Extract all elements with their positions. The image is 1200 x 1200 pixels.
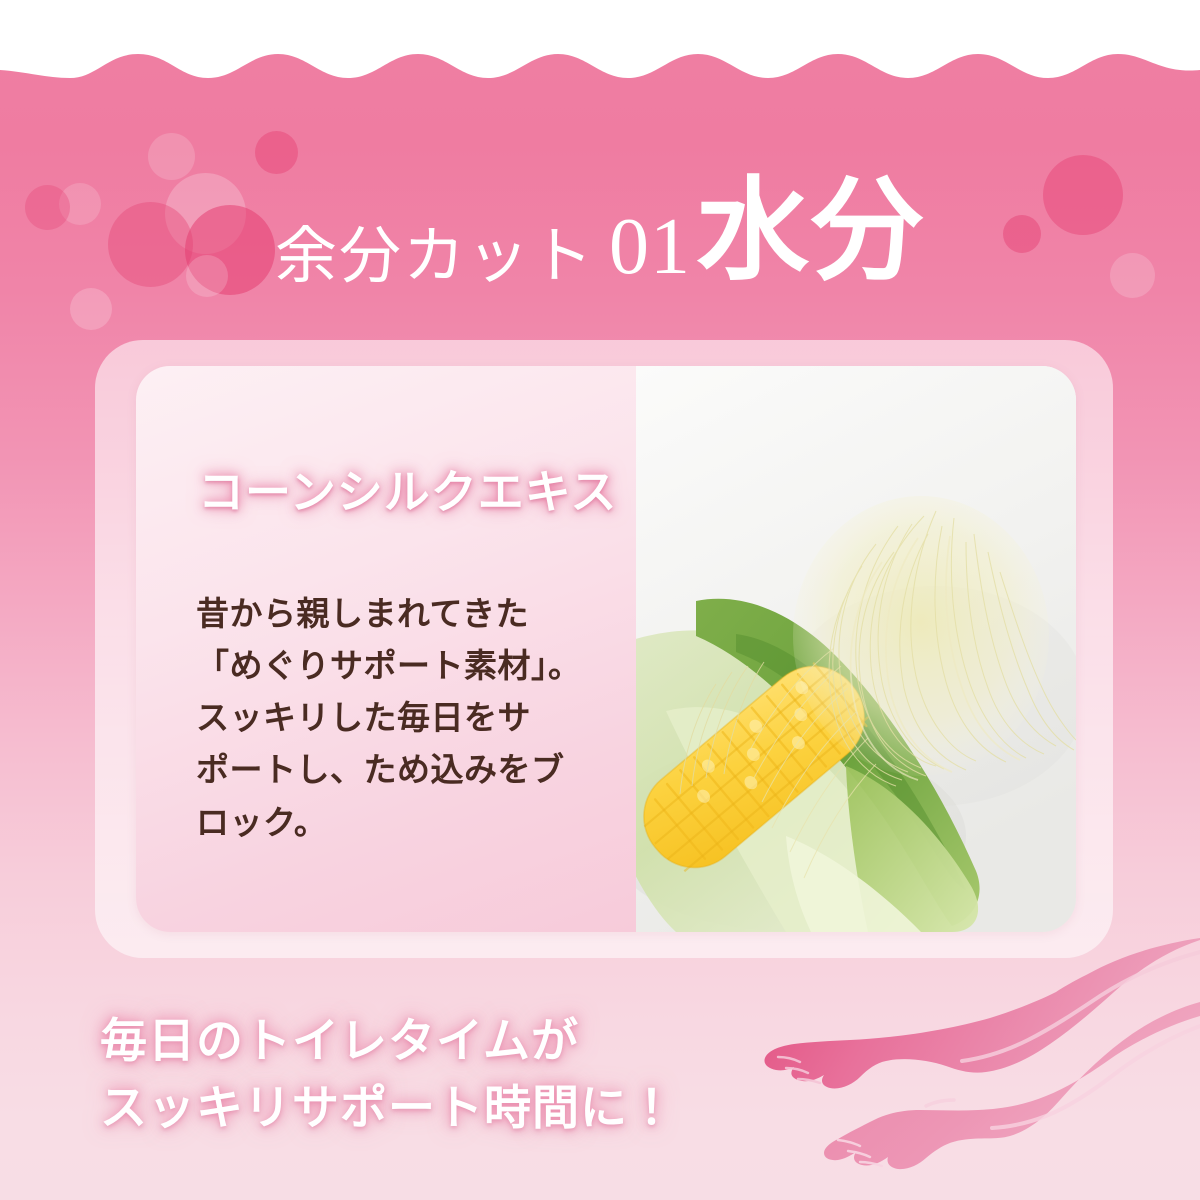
corn-silk-photo [636,366,1076,932]
poster-canvas: 余分カット01水分 [0,0,1200,1200]
headline-number: 01 [609,203,691,291]
page-title: 余分カット01水分 [0,176,1200,288]
headline-main: 水分 [697,170,925,294]
headline-kicker: 余分カット [275,223,595,291]
ingredient-description: 昔から親しまれてきた 「めぐりサポート素材」。 スッキリした毎日をサ ポートし、… [196,588,586,849]
ingredient-title: コーンシルクエキス [198,456,617,522]
footer-caption: 毎日のトイレタイムが スッキリサポート時間に！ [100,1008,676,1141]
